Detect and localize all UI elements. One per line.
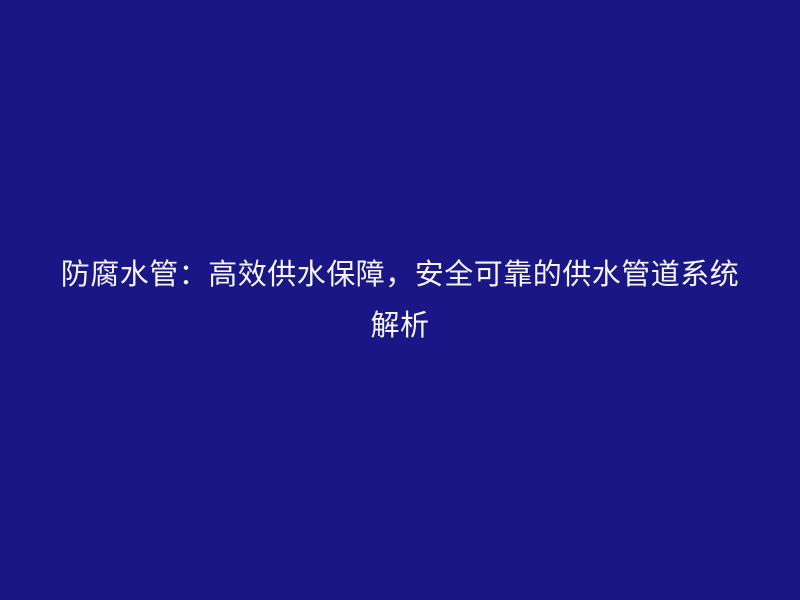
page-title: 防腐水管：高效供水保障，安全可靠的供水管道系统解析 xyxy=(55,249,745,351)
title-block: 防腐水管：高效供水保障，安全可靠的供水管道系统解析 xyxy=(55,249,745,351)
article-canvas: 防腐水管：高效供水保障，安全可靠的供水管道系统解析 xyxy=(0,0,800,600)
